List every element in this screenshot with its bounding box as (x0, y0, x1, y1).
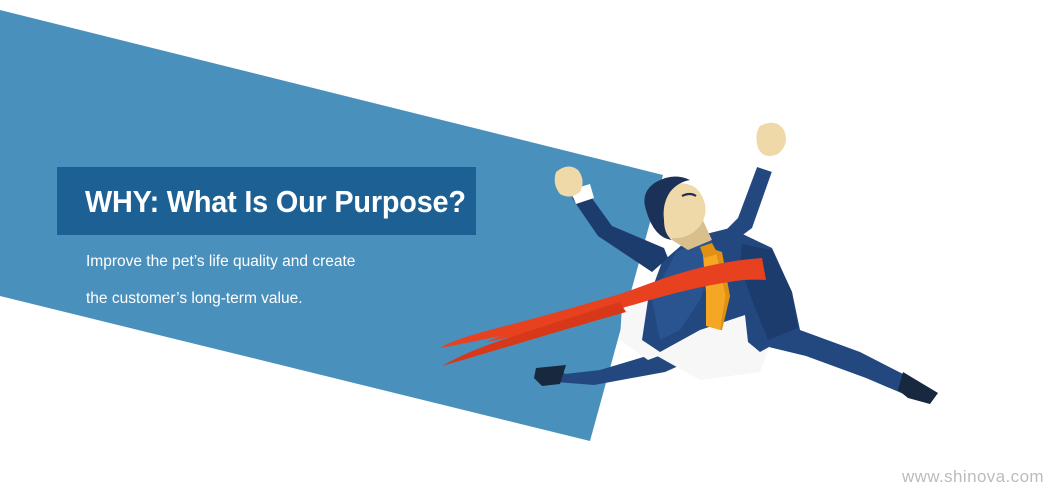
slide-canvas: WHY: What Is Our Purpose? Improve the pe… (0, 0, 1060, 499)
subtitle-line-1: Improve the pet’s life quality and creat… (86, 243, 506, 280)
left-fist (555, 166, 583, 196)
subtitle-line-2: the customer’s long-term value. (86, 280, 506, 317)
subtitle-block: Improve the pet’s life quality and creat… (86, 243, 506, 317)
headline-banner: WHY: What Is Our Purpose? (57, 167, 476, 235)
watermark-url: www.shinova.com (902, 467, 1044, 487)
page-title: WHY: What Is Our Purpose? (85, 186, 466, 217)
